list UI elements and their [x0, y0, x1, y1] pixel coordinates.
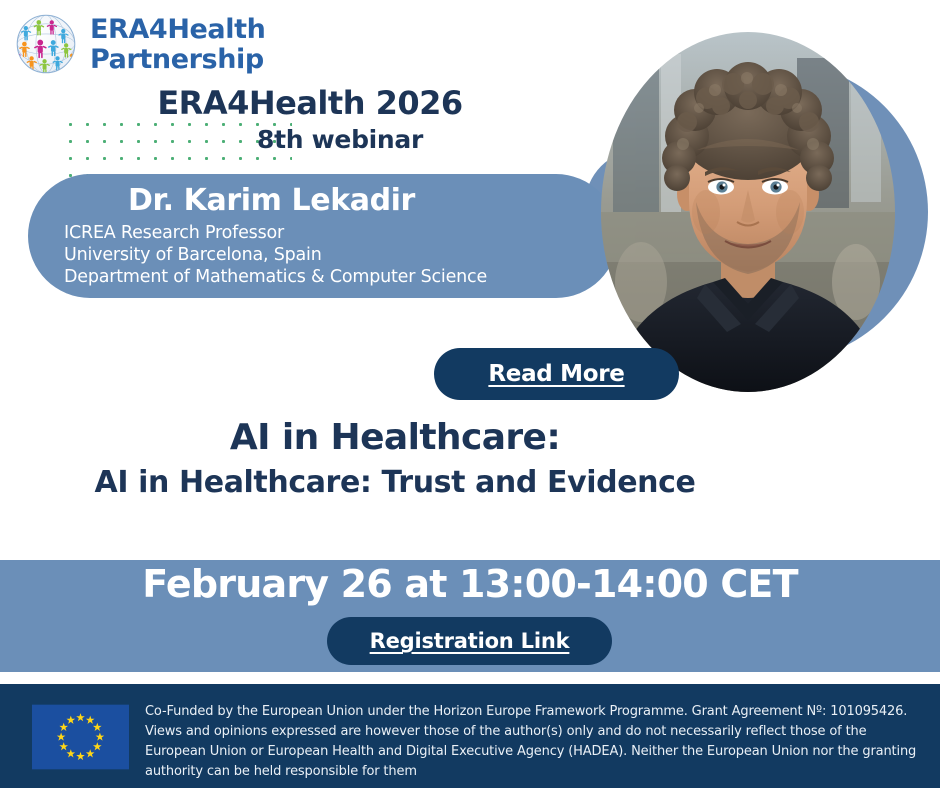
- era4health-logo: ERA4Health Partnership: [10, 8, 265, 80]
- speaker-photo: [601, 32, 895, 392]
- logo-line-2: Partnership: [90, 46, 265, 73]
- european-union-flag-icon: [32, 704, 129, 770]
- speaker-affiliation-1: ICREA Research Professor: [64, 222, 618, 244]
- funding-footer: Co-Funded by the European Union under th…: [0, 684, 940, 788]
- event-subtitle: 8th webinar: [0, 125, 620, 154]
- talk-title: AI in Healthcare: AI in Healthcare: Trus…: [0, 418, 790, 500]
- webinar-poster: ERA4Health Partnership ERA4Health 2026 8…: [0, 0, 940, 788]
- speaker-name: Dr. Karim Lekadir: [94, 184, 618, 219]
- speaker-affiliation-2: University of Barcelona, Spain: [64, 244, 618, 266]
- read-more-label: Read More: [488, 361, 624, 387]
- registration-link-button[interactable]: Registration Link: [327, 617, 612, 665]
- event-heading: ERA4Health 2026 8th webinar: [0, 86, 620, 154]
- schedule-datetime: February 26 at 13:00-14:00 CET: [0, 562, 940, 606]
- speaker-affiliations: ICREA Research Professor University of B…: [64, 222, 618, 289]
- funding-disclaimer: Co-Funded by the European Union under th…: [145, 698, 922, 783]
- registration-link-label: Registration Link: [370, 629, 570, 653]
- globe-of-people-icon: [10, 8, 82, 80]
- logo-line-1: ERA4Health: [90, 16, 265, 43]
- talk-title-line-2: AI in Healthcare: Trust and Evidence: [0, 466, 790, 501]
- speaker-affiliation-3: Department of Mathematics & Computer Sci…: [64, 266, 618, 288]
- event-title: ERA4Health 2026: [0, 86, 620, 121]
- speaker-card: Dr. Karim Lekadir ICREA Research Profess…: [28, 174, 618, 298]
- read-more-button[interactable]: Read More: [434, 348, 679, 400]
- talk-title-line-1: AI in Healthcare:: [0, 418, 790, 458]
